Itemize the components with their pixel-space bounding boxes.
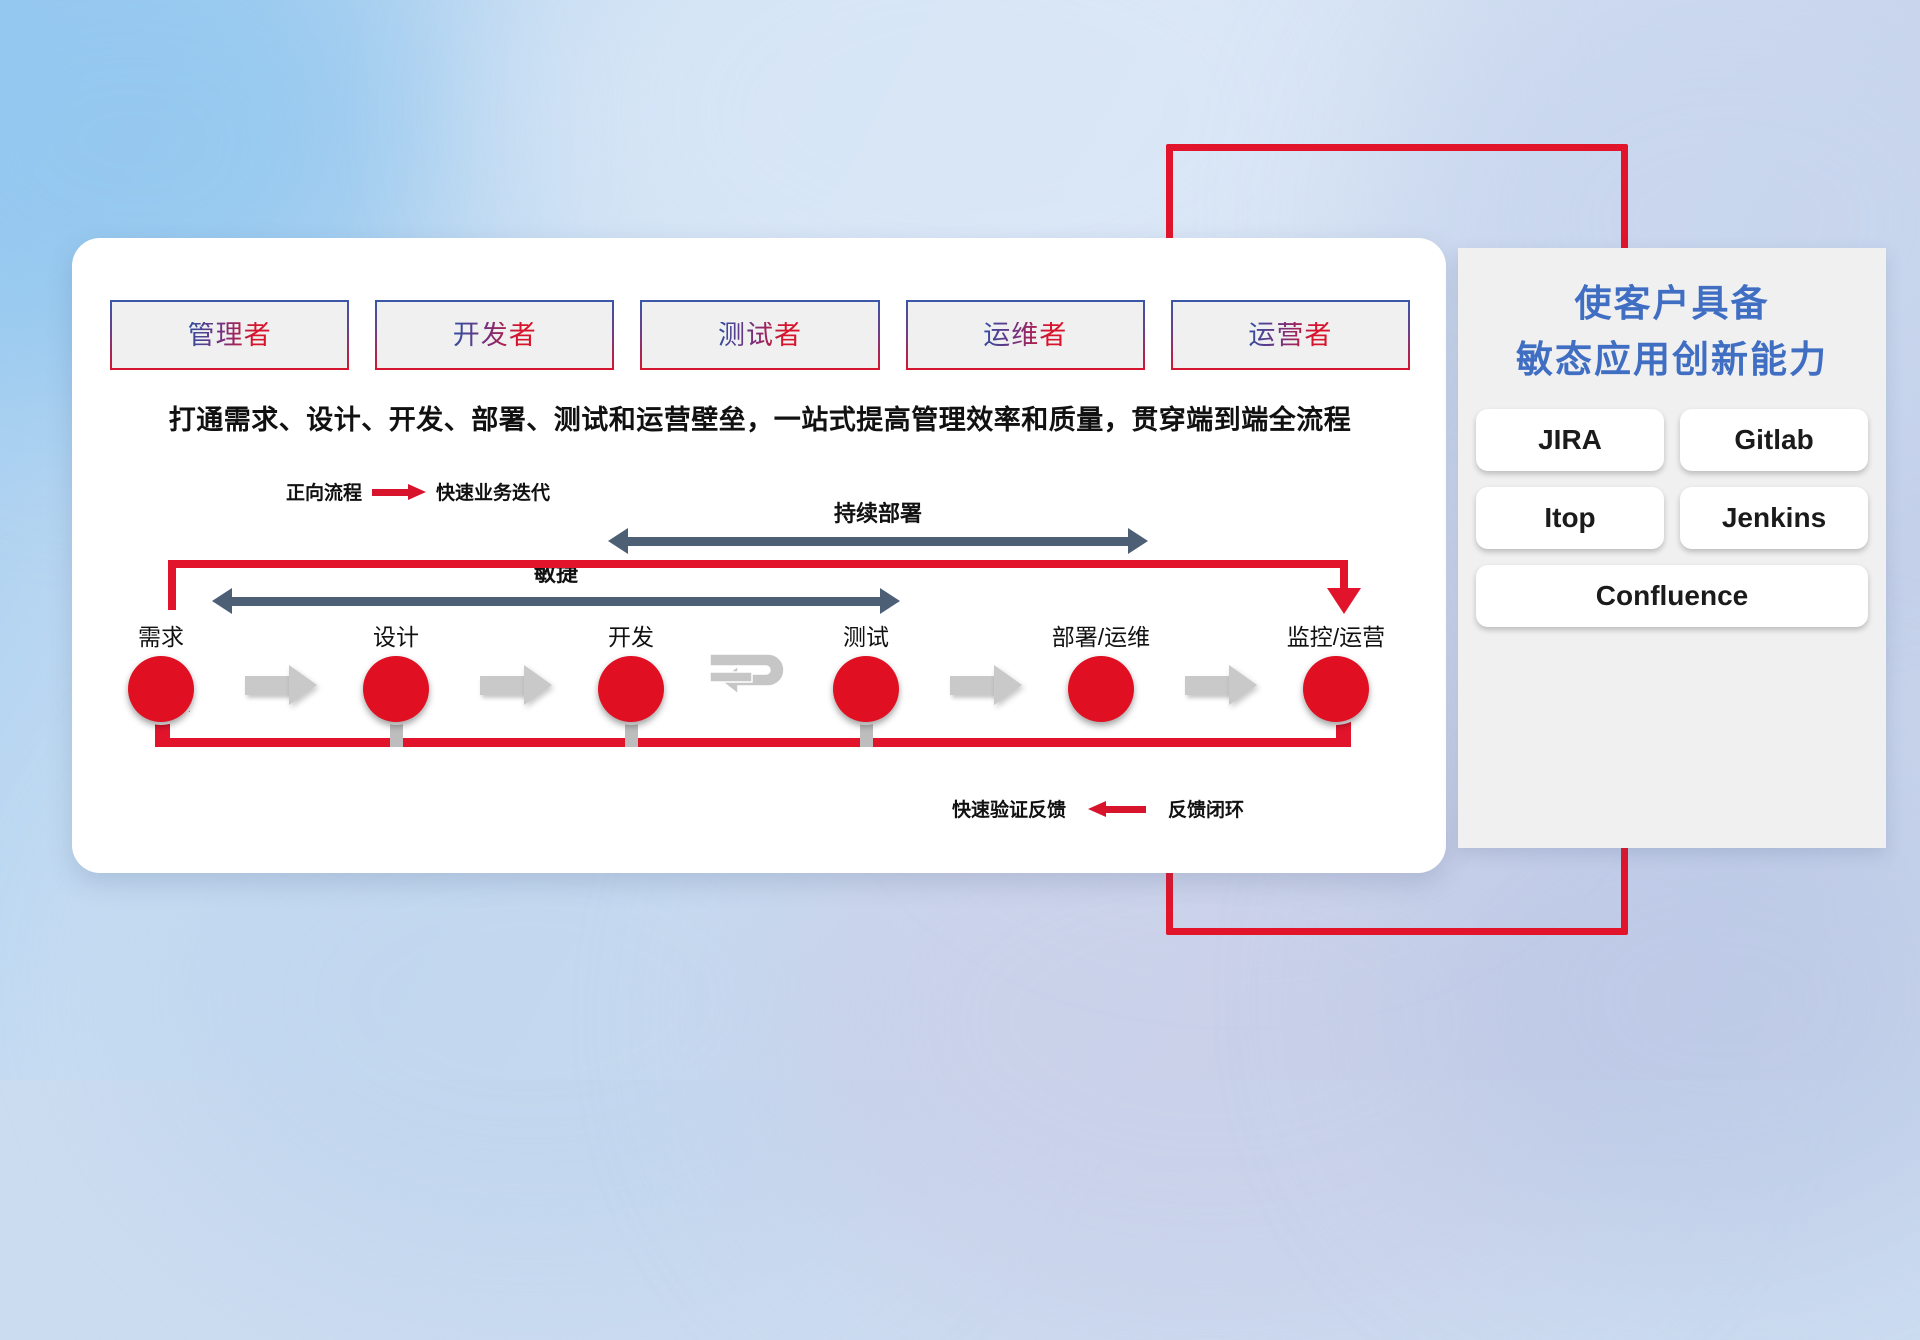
- tool-badge-list: JIRA Gitlab Itop Jenkins Confluence: [1476, 409, 1868, 627]
- stage-label: 部署/运维: [1036, 618, 1166, 652]
- step-arrow-icon: [480, 665, 552, 705]
- tool-badge-confluence[interactable]: Confluence: [1476, 565, 1868, 627]
- stage-node-circle: [598, 656, 664, 722]
- pipeline-stage-design[interactable]: 设计: [331, 618, 461, 722]
- role-label: 运营者: [1248, 322, 1332, 349]
- feedback-loop-rail-top: [168, 560, 1348, 568]
- arrow-bar: [480, 676, 526, 695]
- role-label: 运维者: [983, 322, 1067, 349]
- stage-node-circle: [1068, 656, 1134, 722]
- arrow-right-icon: [372, 486, 426, 498]
- tool-badge-gitlab[interactable]: Gitlab: [1680, 409, 1868, 471]
- panel-title-line2: 敏态应用创新能力: [1468, 332, 1876, 388]
- role-box-row: 管理者 开发者 测试者 运维者 运营者: [110, 300, 1410, 370]
- arrow-right-head-icon: [524, 665, 552, 705]
- arrow-left-icon: [1088, 802, 1146, 816]
- arrow-bar: [950, 676, 996, 695]
- role-label: 开发者: [453, 322, 537, 349]
- headline-text: 打通需求、设计、开发、部署、测试和运营壁垒，一站式提高管理效率和质量，贯穿端到端…: [0, 398, 1520, 437]
- arrow-right-head-icon: [1229, 665, 1257, 705]
- forward-flow-label-right: 快速业务迭代: [436, 478, 550, 505]
- stage-label: 需求: [96, 618, 226, 652]
- feedback-loop-rail-bottom: [168, 738, 1348, 747]
- stage-node-circle: [1303, 656, 1369, 722]
- feedback-label-right: 反馈闭环: [1168, 795, 1244, 822]
- value-proposition-panel: 使客户具备 敏态应用创新能力 JIRA Gitlab Itop Jenkins …: [1458, 248, 1886, 848]
- arrow-bar: [1185, 676, 1231, 695]
- arrow-right-head-icon: [994, 665, 1022, 705]
- role-box-operations-engineer[interactable]: 运维者: [906, 300, 1145, 370]
- role-label: 测试者: [718, 322, 802, 349]
- step-arrow-icon: [950, 665, 1022, 705]
- pipeline-stage-development[interactable]: 开发: [566, 618, 696, 722]
- stage-node-circle: [363, 656, 429, 722]
- panel-title: 使客户具备 敏态应用创新能力: [1458, 248, 1886, 387]
- role-box-manager[interactable]: 管理者: [110, 300, 349, 370]
- forward-flow-label-left: 正向流程: [286, 478, 362, 505]
- feedback-loop-legend: 快速验证反馈 反馈闭环: [952, 795, 1244, 822]
- slide-canvas: 管理者 开发者 测试者 运维者 运营者 打通需求、设计、开发、部署、测试和运营壁…: [0, 0, 1920, 1080]
- arrow-right-head-icon: [289, 665, 317, 705]
- tool-badge-jenkins[interactable]: Jenkins: [1680, 487, 1868, 549]
- tool-badge-itop[interactable]: Itop: [1476, 487, 1664, 549]
- arrow-right-head-icon: [1128, 528, 1148, 554]
- step-arrow-icon: [245, 665, 317, 705]
- role-label: 管理者: [188, 322, 272, 349]
- continuous-deployment-label: 持续部署: [608, 496, 1148, 528]
- forward-flow-legend: 正向流程 快速业务迭代: [286, 478, 550, 505]
- feedback-label-left: 快速验证反馈: [952, 795, 1066, 822]
- role-box-tester[interactable]: 测试者: [640, 300, 879, 370]
- arrow-bar: [625, 537, 1131, 546]
- stage-label: 监控/运营: [1271, 618, 1401, 652]
- devops-loop-icon: [708, 650, 800, 712]
- arrow-down-icon: [1327, 588, 1361, 614]
- continuous-deployment-span-arrow: [608, 528, 1148, 554]
- pipeline-stage-monitor-operate[interactable]: 监控/运营: [1271, 618, 1401, 722]
- stage-node-circle: [833, 656, 899, 722]
- role-box-business-operator[interactable]: 运营者: [1171, 300, 1410, 370]
- tool-badge-jira[interactable]: JIRA: [1476, 409, 1664, 471]
- pipeline-stage-deploy-ops[interactable]: 部署/运维: [1036, 618, 1166, 722]
- stage-label: 开发: [566, 618, 696, 652]
- pipeline-stage-testing[interactable]: 测试: [801, 618, 931, 722]
- agile-span-arrow: [212, 588, 900, 614]
- panel-title-line1: 使客户具备: [1468, 276, 1876, 332]
- arrow-bar: [245, 676, 291, 695]
- arrow-right-head-icon: [880, 588, 900, 614]
- stage-label: 测试: [801, 618, 931, 652]
- role-box-developer[interactable]: 开发者: [375, 300, 614, 370]
- step-arrow-icon: [1185, 665, 1257, 705]
- arrow-bar: [229, 597, 883, 606]
- stage-node-circle: [128, 656, 194, 722]
- pipeline-stage-requirement[interactable]: 需求: [96, 618, 226, 722]
- stage-label: 设计: [331, 618, 461, 652]
- feedback-loop-rail-left: [168, 560, 176, 610]
